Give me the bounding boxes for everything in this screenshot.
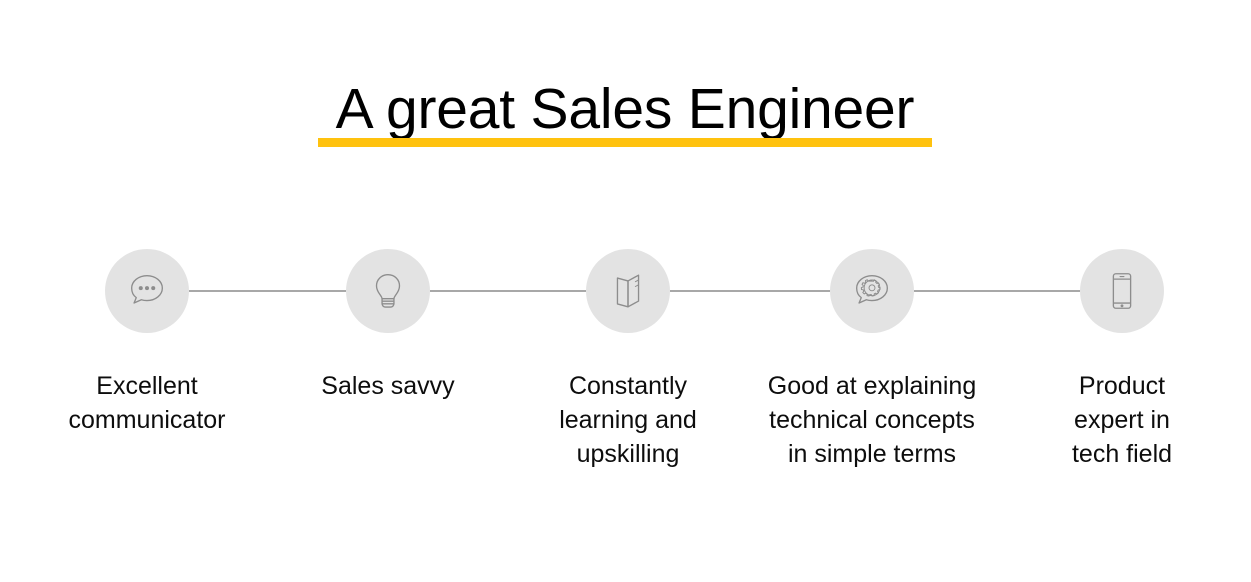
timeline-diagram: Excellent communicator Sales savvy xyxy=(0,0,1251,582)
step-circle xyxy=(830,249,914,333)
connector-line-1-2 xyxy=(189,290,346,292)
timeline-step-good-at-explaining[interactable]: Good at explaining technical concepts in… xyxy=(830,249,914,333)
timeline-step-excellent-communicator[interactable]: Excellent communicator xyxy=(105,249,189,333)
step-label: Product expert in tech field xyxy=(1032,369,1212,471)
connector-line-3-4 xyxy=(670,290,830,292)
speech-bubble-dots-icon xyxy=(124,268,170,314)
step-label: Constantly learning and upskilling xyxy=(513,369,743,471)
smartphone-icon xyxy=(1099,268,1145,314)
step-circle xyxy=(1080,249,1164,333)
connector-line-2-3 xyxy=(430,290,586,292)
lightbulb-icon xyxy=(365,268,411,314)
step-label: Sales savvy xyxy=(273,369,503,403)
timeline-step-product-expert[interactable]: Product expert in tech field xyxy=(1080,249,1164,333)
step-circle xyxy=(105,249,189,333)
open-book-icon xyxy=(605,268,651,314)
step-circle xyxy=(346,249,430,333)
connector-line-4-5 xyxy=(914,290,1080,292)
timeline-step-constantly-learning[interactable]: Constantly learning and upskilling xyxy=(586,249,670,333)
timeline-step-sales-savvy[interactable]: Sales savvy xyxy=(346,249,430,333)
step-label: Good at explaining technical concepts in… xyxy=(737,369,1007,471)
step-circle xyxy=(586,249,670,333)
step-label: Excellent communicator xyxy=(32,369,262,437)
speech-bubble-gear-icon xyxy=(849,268,895,314)
